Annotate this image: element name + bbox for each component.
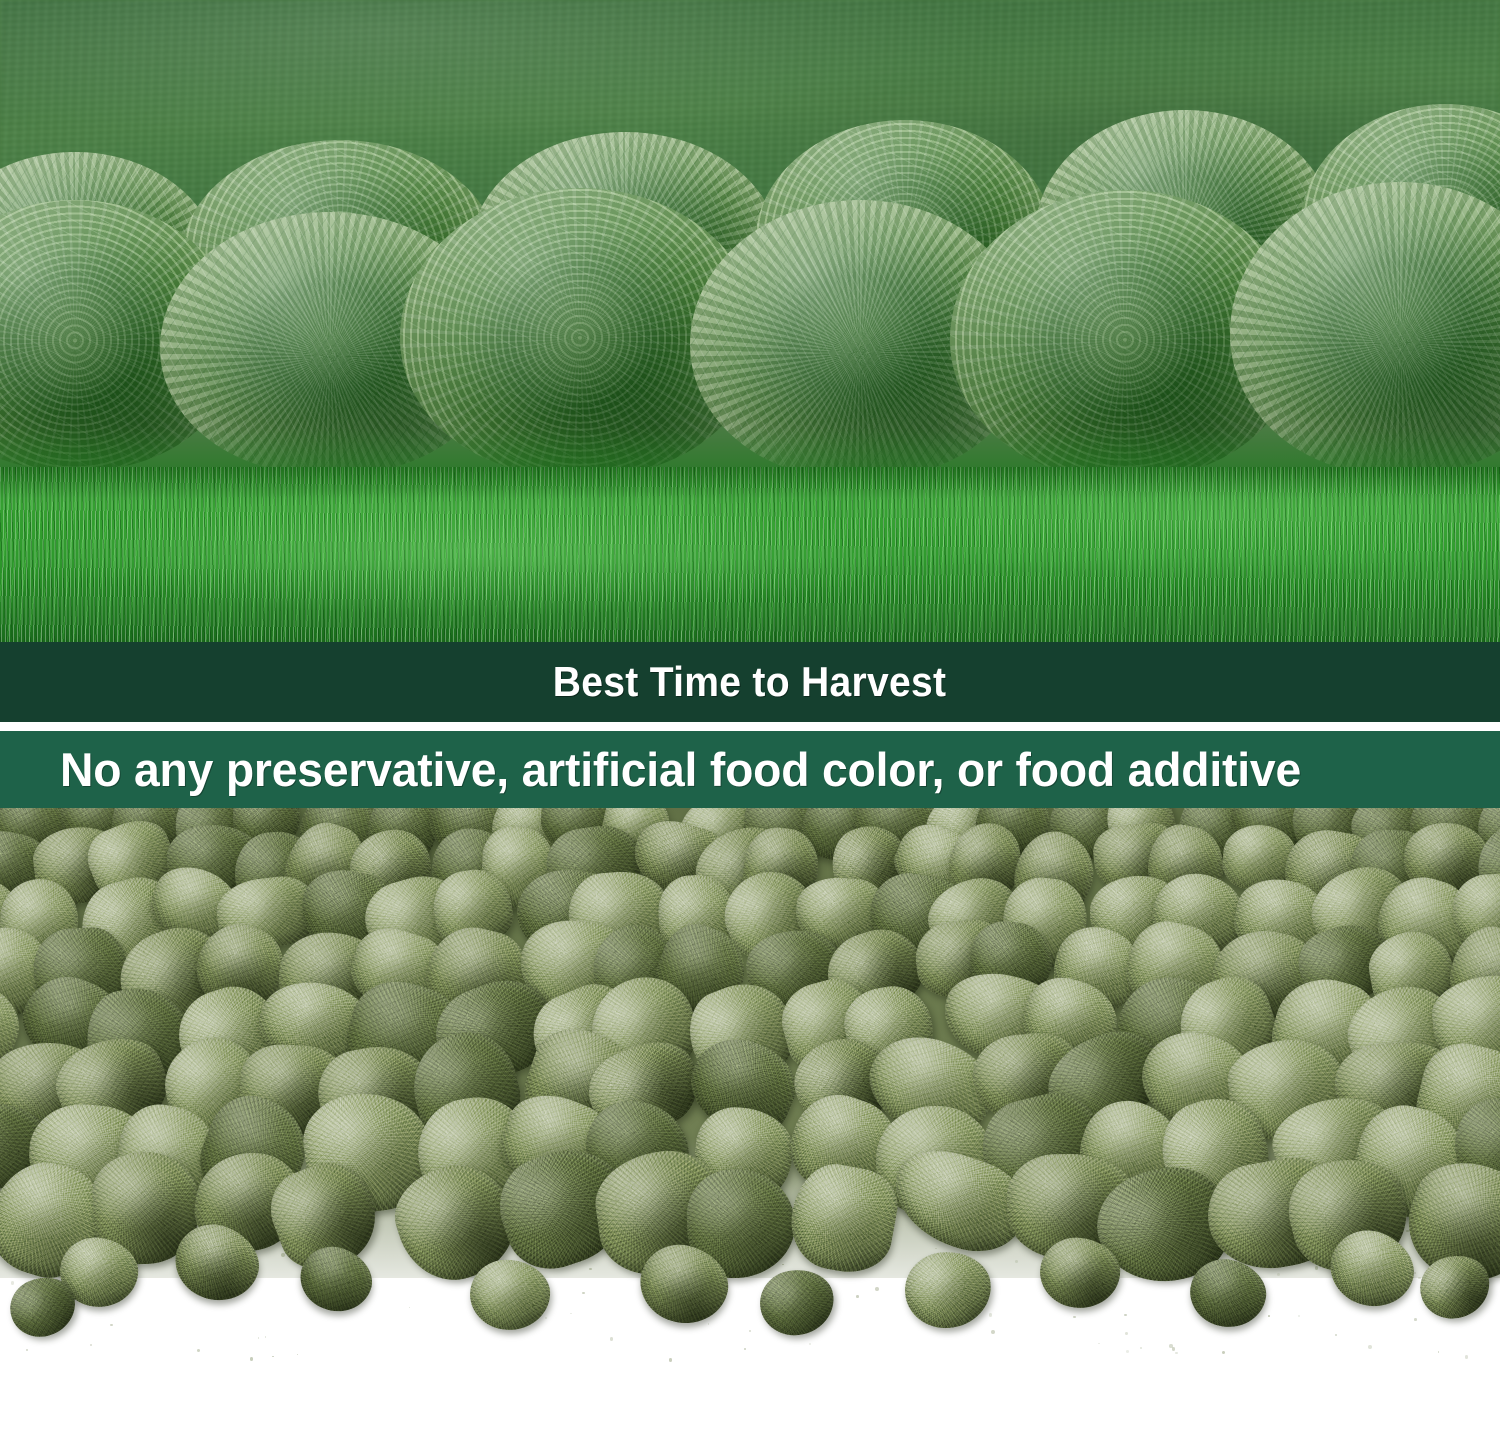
pellet-crumb	[809, 1343, 811, 1345]
pellet-crumb	[1172, 1347, 1176, 1351]
pellet-crumb	[1125, 1332, 1129, 1336]
mown-grass-foreground	[0, 467, 1500, 642]
pellet-crumb	[610, 1337, 613, 1340]
pellet-crumb	[1414, 1318, 1417, 1321]
pellet-crumb	[1140, 1347, 1142, 1349]
pellet-crumb	[11, 1281, 15, 1285]
pellet-crumb	[409, 1307, 410, 1308]
pellet-crumb	[250, 1357, 253, 1360]
pellet-crumb	[26, 1349, 28, 1351]
product-image-root: Best Time to Harvest No any preservative…	[0, 0, 1500, 1434]
pellet-crumb	[1126, 1350, 1129, 1353]
no-additives-banner: No any preservative, artificial food col…	[0, 731, 1500, 808]
pellet-crumb	[669, 1358, 673, 1362]
pellet-crumb	[1335, 1334, 1337, 1336]
pellet-crumb	[570, 1313, 572, 1315]
pellet-crumb	[856, 1295, 859, 1298]
pellet-crumb	[1073, 1316, 1075, 1318]
best-time-to-harvest-banner: Best Time to Harvest	[0, 642, 1500, 722]
pellet-crumb	[708, 1323, 709, 1324]
pellet-crumb	[1169, 1344, 1173, 1348]
pellet-crumb	[90, 1344, 92, 1346]
grass-blend	[0, 427, 1500, 467]
pellet-crumb	[749, 1330, 751, 1332]
hay-field-photo	[0, 0, 1500, 642]
pellet-crumb	[1368, 1345, 1372, 1349]
pellet-crumb	[297, 1354, 298, 1355]
pellet-crumb	[1465, 1355, 1468, 1358]
pellet-crumb	[1298, 1315, 1300, 1317]
banner-primary-text: Best Time to Harvest	[553, 661, 946, 703]
hay-pellets-photo	[0, 808, 1500, 1434]
pellet-crumb	[875, 1287, 879, 1291]
pellet-crumb	[991, 1330, 995, 1334]
pellet-crumb	[197, 1349, 200, 1352]
pellet-crumb	[582, 1292, 585, 1295]
pellet-crumb	[1175, 1352, 1178, 1355]
banner-secondary-text: No any preservative, artificial food col…	[60, 746, 1301, 793]
white-divider	[0, 722, 1500, 731]
pellet-crumb	[110, 1324, 113, 1327]
pellet-crumb	[1438, 1351, 1440, 1353]
pellet-crumb	[989, 1313, 992, 1316]
pellet-crumb	[1222, 1351, 1225, 1354]
pellet-crumb	[1124, 1314, 1126, 1316]
pellet-crumb	[258, 1337, 260, 1339]
pellet-crumb	[1098, 1343, 1099, 1344]
pellet-crumb	[272, 1356, 274, 1358]
pellet-crumb	[744, 1348, 746, 1350]
pellet-crumb	[1268, 1315, 1270, 1317]
pellet-crumb	[545, 1317, 548, 1320]
pellet-crumb	[265, 1336, 267, 1338]
